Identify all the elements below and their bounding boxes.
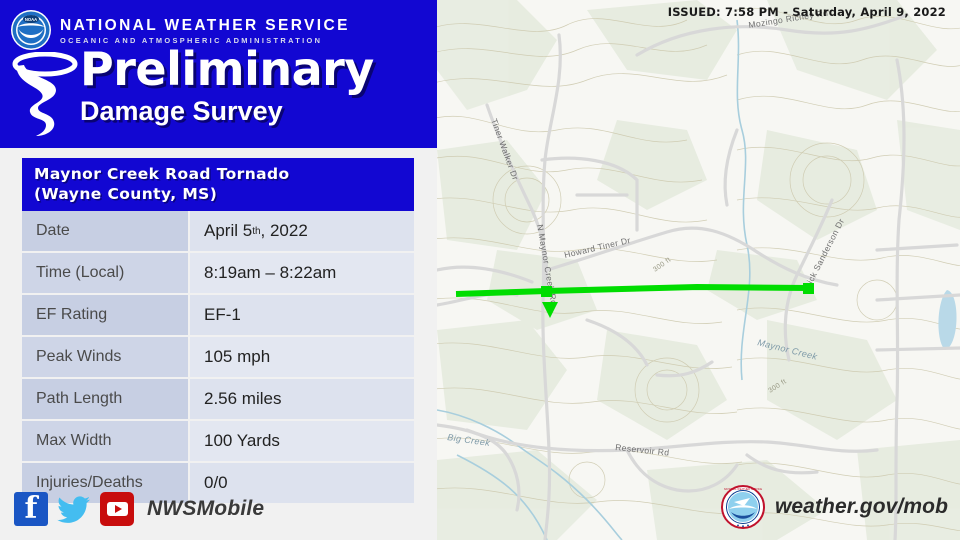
survey-table-header-line2: (Wayne County, MS) bbox=[34, 184, 402, 204]
table-row: Peak Winds 105 mph bbox=[22, 337, 414, 377]
damage-survey-graphic: NOAA NATIONAL WEATHER SERVICE OCEANIC AN… bbox=[0, 0, 960, 540]
table-row: Max Width 100 Yards bbox=[22, 421, 414, 461]
svg-text:NOAA: NOAA bbox=[25, 17, 37, 22]
map-canvas[interactable]: Mozingo Richey Rd Tiner Walker Dr N Mayn… bbox=[437, 0, 960, 540]
youtube-icon[interactable] bbox=[100, 492, 134, 526]
map-panel[interactable]: Mozingo Richey Rd Tiner Walker Dr N Mayn… bbox=[437, 0, 960, 540]
row-value: EF-1 bbox=[190, 295, 414, 335]
page-title: Preliminary bbox=[80, 46, 374, 92]
survey-table-header-line1: Maynor Creek Road Tornado bbox=[34, 165, 290, 183]
left-panel: NOAA NATIONAL WEATHER SERVICE OCEANIC AN… bbox=[0, 0, 437, 540]
row-label: EF Rating bbox=[22, 295, 190, 335]
table-row: Time (Local) 8:19am – 8:22am bbox=[22, 253, 414, 293]
row-value: 105 mph bbox=[190, 337, 414, 377]
survey-table: Maynor Creek Road Tornado (Wayne County,… bbox=[22, 158, 414, 503]
row-value-text: April 5 bbox=[204, 221, 252, 241]
table-row: Date April 5th, 2022 bbox=[22, 211, 414, 251]
table-row: EF Rating EF-1 bbox=[22, 295, 414, 335]
row-value: 2.56 miles bbox=[190, 379, 414, 419]
issued-timestamp: ISSUED: 7:58 PM - Saturday, April 9, 202… bbox=[668, 5, 946, 19]
row-label: Peak Winds bbox=[22, 337, 190, 377]
twitter-icon[interactable] bbox=[57, 492, 91, 526]
survey-table-header: Maynor Creek Road Tornado (Wayne County,… bbox=[22, 158, 414, 211]
track-end-marker bbox=[803, 283, 814, 294]
row-value: 8:19am – 8:22am bbox=[190, 253, 414, 293]
row-label: Max Width bbox=[22, 421, 190, 461]
row-value: April 5th, 2022 bbox=[190, 211, 414, 251]
tornado-funnel-icon bbox=[12, 52, 78, 138]
facebook-icon[interactable]: f bbox=[14, 492, 48, 526]
page-subtitle: Damage Survey bbox=[80, 96, 374, 126]
weather-gov-footer[interactable]: NATIONAL WEATHER SERVICE weather.gov/mob bbox=[720, 484, 948, 530]
play-triangle-icon bbox=[115, 505, 122, 513]
row-label: Time (Local) bbox=[22, 253, 190, 293]
social-bar: f NWSMobile bbox=[14, 492, 264, 526]
facebook-glyph: f bbox=[14, 492, 48, 526]
social-handle: NWSMobile bbox=[147, 497, 264, 521]
track-start-marker bbox=[541, 286, 552, 297]
row-value-sup: th bbox=[252, 226, 260, 237]
svg-text:NATIONAL WEATHER SERVICE: NATIONAL WEATHER SERVICE bbox=[724, 487, 763, 491]
youtube-play-box bbox=[107, 502, 128, 516]
row-label: Date bbox=[22, 211, 190, 251]
row-value-tail: , 2022 bbox=[261, 221, 308, 241]
row-label: Path Length bbox=[22, 379, 190, 419]
title-block: Preliminary Damage Survey bbox=[80, 46, 374, 126]
agency-title-block: NATIONAL WEATHER SERVICE OCEANIC AND ATM… bbox=[60, 15, 350, 46]
nws-seal-icon: NATIONAL WEATHER SERVICE bbox=[720, 484, 766, 530]
table-row: Path Length 2.56 miles bbox=[22, 379, 414, 419]
noaa-seal-icon: NOAA bbox=[10, 9, 52, 51]
agency-title: NATIONAL WEATHER SERVICE bbox=[60, 17, 350, 34]
weather-gov-url: weather.gov/mob bbox=[775, 495, 948, 519]
row-value: 100 Yards bbox=[190, 421, 414, 461]
